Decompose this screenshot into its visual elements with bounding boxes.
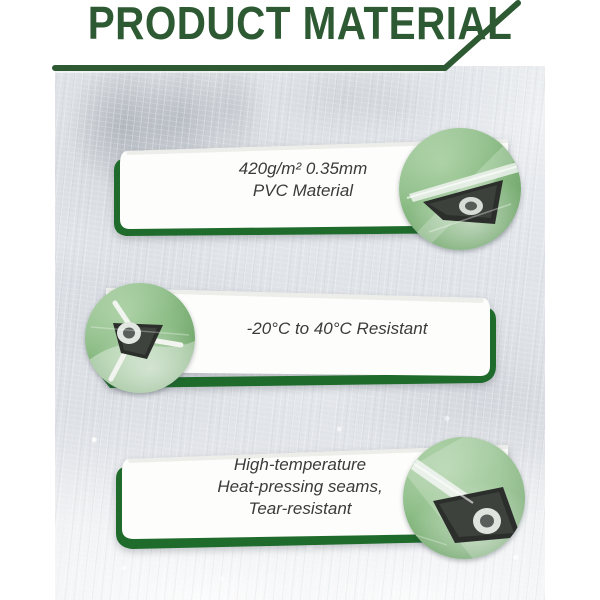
feature-text: -20°C to 40°C Resistant [202,318,472,340]
grommet-illustration [399,128,521,250]
grommet-illustration [403,437,525,559]
tarp-grommet-ropes-icon [85,283,195,393]
grommet-illustration [85,283,195,393]
tarp-grommet-seam-icon [403,437,525,559]
product-material-poster: PRODUCT MATERIAL 420g/m² 0.35mm PVC Mate… [0,0,600,600]
page-title: PRODUCT MATERIAL [36,0,564,50]
feature-text: High-temperature Heat-pressing seams, Te… [160,454,440,519]
tarp-grommet-corner-icon [399,128,521,250]
feature-text: 420g/m² 0.35mm PVC Material [168,158,438,202]
